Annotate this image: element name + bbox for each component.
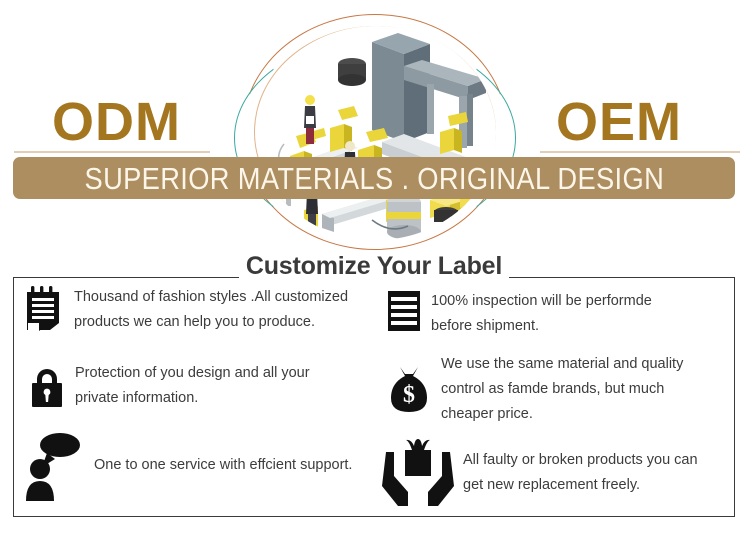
person-speech-bubble-icon — [25, 429, 85, 501]
list-item-text: We use the same material and quality con… — [441, 352, 683, 427]
odm-word: ODM — [52, 95, 181, 149]
list-item-text: All faulty or broken products you can ge… — [463, 448, 698, 498]
money-bag-dollar-icon: $ — [386, 365, 432, 413]
page-title-label: Customize Your Label — [239, 252, 509, 280]
list-item-text: Thousand of fashion styles .All customiz… — [74, 285, 348, 335]
list-item: 100% inspection will be performde before… — [374, 279, 735, 341]
oem-word: OEM — [556, 95, 682, 149]
factory-illustration-group — [236, 4, 514, 256]
divider-rule-left — [14, 151, 210, 153]
svg-text:$: $ — [403, 382, 415, 408]
list-item-text: Protection of you design and all your pr… — [75, 361, 310, 411]
tagline-text: SUPERIOR MATERIALS . ORIGINAL DESIGN — [84, 163, 664, 194]
isometric-factory-illustration — [254, 24, 498, 242]
features-column-left: Thousand of fashion styles .All customiz… — [13, 279, 374, 515]
features-grid: Thousand of fashion styles .All customiz… — [13, 279, 735, 515]
list-item: Protection of you design and all your pr… — [13, 349, 374, 421]
divider-rule-right — [540, 151, 740, 153]
list-item-text: 100% inspection will be performde before… — [431, 289, 652, 339]
list-item: One to one service with effcient support… — [13, 421, 374, 509]
features-column-right: 100% inspection will be performde before… — [374, 279, 735, 515]
list-item: $ We use the same material and quality c… — [374, 341, 735, 437]
list-item: All faulty or broken products you can ge… — [374, 437, 735, 509]
promo-header: ODM OEM SUPERIOR MATERIALS . ORIGINAL DE… — [0, 0, 748, 258]
tagline-banner: SUPERIOR MATERIALS . ORIGINAL DESIGN — [13, 157, 735, 199]
hands-holding-gift-icon — [380, 438, 454, 508]
padlock-icon — [28, 364, 66, 408]
page-title: Customize Your Label — [0, 254, 748, 279]
list-item: Thousand of fashion styles .All customiz… — [13, 279, 374, 349]
notepad-icon — [25, 285, 65, 331]
list-item-text: One to one service with effcient support… — [94, 453, 352, 478]
striped-checklist-box-icon — [386, 289, 422, 333]
